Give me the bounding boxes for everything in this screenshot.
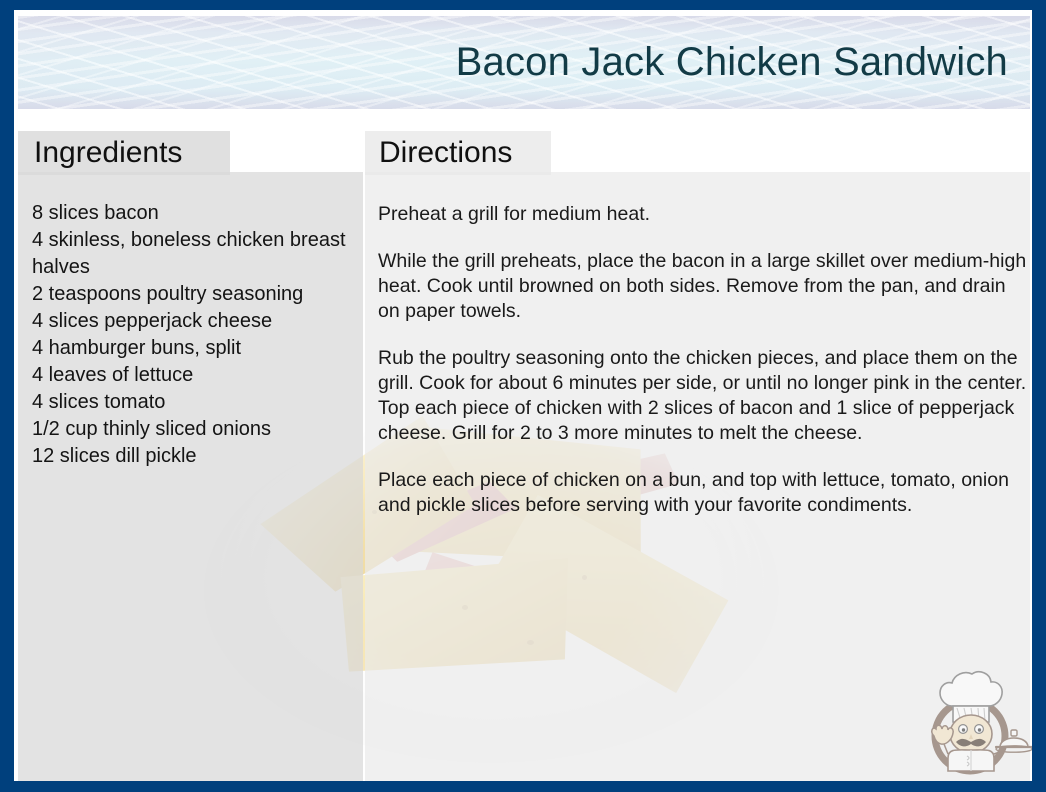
list-item: 4 hamburger buns, split [32, 335, 352, 362]
list-item: 4 skinless, boneless chicken breast halv… [32, 227, 352, 281]
title-banner: Bacon Jack Chicken Sandwich [18, 16, 1030, 109]
direction-step: Preheat a grill for medium heat. [378, 202, 1028, 227]
list-item: 12 slices dill pickle [32, 443, 352, 470]
list-item: 1/2 cup thinly sliced onions [32, 416, 352, 443]
direction-step: Rub the poultry seasoning onto the chick… [378, 346, 1028, 446]
direction-step: While the grill preheats, place the baco… [378, 249, 1028, 324]
directions-text: Preheat a grill for medium heat. While t… [378, 202, 1028, 540]
directions-heading-label: Directions [379, 136, 512, 170]
ingredients-heading-label: Ingredients [34, 136, 182, 170]
directions-heading-tab: Directions [365, 131, 551, 175]
chef-logo [912, 650, 1032, 778]
chef-with-cloche-icon [912, 650, 1032, 778]
direction-step: Place each piece of chicken on a bun, an… [378, 468, 1028, 518]
list-item: 2 teaspoons poultry seasoning [32, 281, 352, 308]
page-title: Bacon Jack Chicken Sandwich [456, 41, 1008, 83]
list-item: 4 leaves of lettuce [32, 362, 352, 389]
card-inner-frame: Bacon Jack Chicken Sandwich Ingredients [14, 10, 1032, 781]
ingredients-list: 8 slices bacon 4 skinless, boneless chic… [32, 200, 352, 470]
recipe-card: Bacon Jack Chicken Sandwich Ingredients [0, 0, 1046, 792]
ingredients-heading-tab: Ingredients [18, 131, 230, 175]
list-item: 8 slices bacon [32, 200, 352, 227]
list-item: 4 slices tomato [32, 389, 352, 416]
list-item: 4 slices pepperjack cheese [32, 308, 352, 335]
